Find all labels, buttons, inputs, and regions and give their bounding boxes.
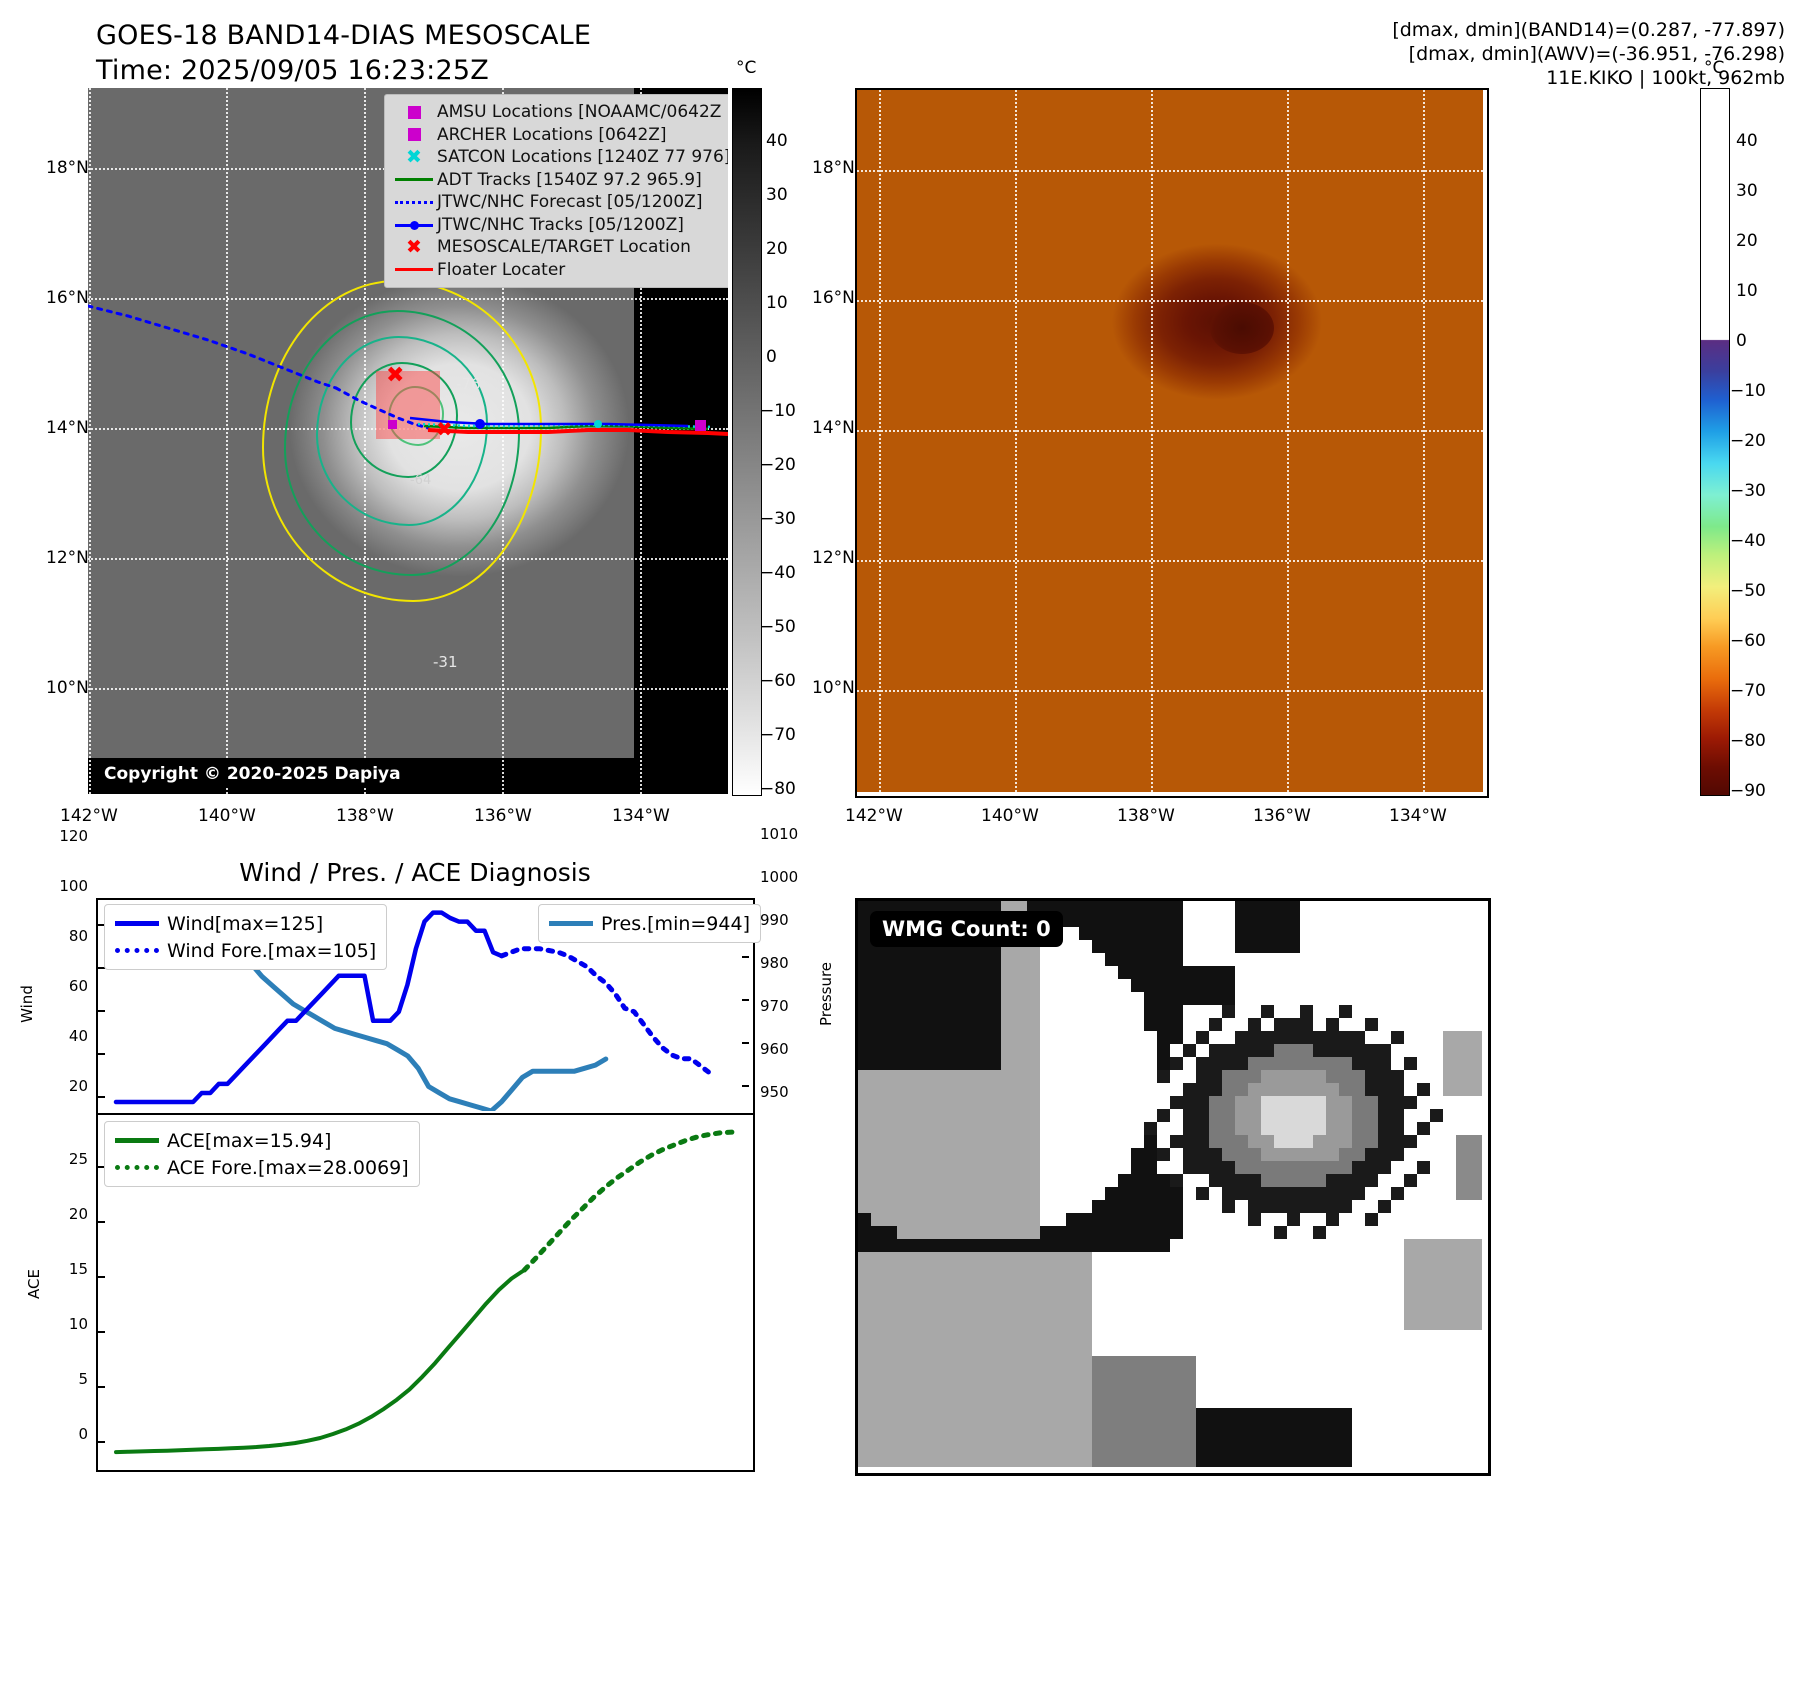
grid-line-horizontal xyxy=(857,300,1487,302)
diagnosis-chart-title: Wind / Pres. / ACE Diagnosis xyxy=(0,858,830,887)
legend-item: AMSU Locations [NOAAMC/0642Z 70 987] xyxy=(391,101,728,124)
ir-lat-tick: 10°N xyxy=(46,678,89,698)
mesoscale-target-x-marker: ✖ xyxy=(436,417,453,441)
wv-colorbar-tick: −10 xyxy=(1730,381,1766,401)
ir-colorbar-gradient xyxy=(732,88,762,796)
ir-colorbar-tick: 0 xyxy=(766,347,777,367)
wv-colorbar-tick: −30 xyxy=(1730,481,1766,501)
wmg-raster xyxy=(858,901,1482,1467)
legend-item: ✖ SATCON Locations [1240Z 77 976] xyxy=(391,146,728,169)
wv-image xyxy=(857,90,1483,792)
ace-ytick: 25 xyxy=(38,1150,88,1168)
annotation-awv-range: [dmax, dmin](AWV)=(-36.951, -76.298) xyxy=(1392,42,1785,66)
wmg-count-badge: WMG Count: 0 xyxy=(870,911,1063,947)
pressure-ytick: 950 xyxy=(760,1083,789,1101)
ir-colorbar-tick: 10 xyxy=(766,293,788,313)
wv-lon-tick: 138°W xyxy=(1117,806,1175,826)
wind-forecast-dotted-icon xyxy=(115,948,167,953)
legend-item-label: ADT Tracks [1540Z 97.2 965.9] xyxy=(437,170,702,190)
legend-item: JTWC/NHC Forecast [05/1200Z] xyxy=(391,191,728,214)
grid-line-horizontal xyxy=(857,430,1487,432)
satcon-x-icon: ✖ xyxy=(391,148,437,167)
wv-colorbar-tick: −40 xyxy=(1730,531,1766,551)
ir-colorbar-tick: −50 xyxy=(760,617,796,637)
floater-locater-track xyxy=(428,430,728,434)
legend-item: ACE Fore.[max=28.0069] xyxy=(115,1154,409,1181)
wv-colorbar-tick: 30 xyxy=(1736,181,1758,201)
pressure-ytick: 1000 xyxy=(760,868,798,886)
jtwc-line-dot-icon xyxy=(391,220,437,230)
ir-satellite-panel[interactable]: -76 -31 -64 ✖ ✖ AMSU Locations [NOAAMC/0… xyxy=(88,88,728,794)
legend-item: ADT Tracks [1540Z 97.2 965.9] xyxy=(391,169,728,192)
ir-colorbar-tick: −70 xyxy=(760,725,796,745)
ir-lon-tick: 136°W xyxy=(474,806,532,826)
wind-legend: Wind[max=125] Wind Fore.[max=105] xyxy=(104,904,387,970)
ir-colorbar-tick: −10 xyxy=(760,401,796,421)
storm-eye xyxy=(1210,302,1274,354)
pressure-ytick: 990 xyxy=(760,911,789,929)
ir-lon-tick: 140°W xyxy=(198,806,256,826)
wv-colorbar-tick: −60 xyxy=(1730,631,1766,651)
ir-lat-tick: 16°N xyxy=(46,288,89,308)
ace-ytick: 10 xyxy=(38,1315,88,1333)
jtwc-forecast-track xyxy=(88,306,336,388)
legend-item-label: Wind Fore.[max=105] xyxy=(167,940,376,962)
ir-lat-tick: 18°N xyxy=(46,158,89,178)
wind-ytick: 100 xyxy=(38,877,88,895)
ir-colorbar-tick: −30 xyxy=(760,509,796,529)
legend-item-label: Pres.[min=944] xyxy=(601,913,750,935)
wv-colorbar-gradient xyxy=(1700,88,1730,796)
legend-item-label: SATCON Locations [1240Z 77 976] xyxy=(437,147,728,167)
wind-ytick: 60 xyxy=(38,977,88,995)
wv-colorbar-tick: −20 xyxy=(1730,431,1766,451)
jtwc-track-point xyxy=(475,419,485,429)
wv-colorbar-tick: 40 xyxy=(1736,131,1758,151)
pressure-ytick: 970 xyxy=(760,997,789,1015)
wind-pressure-chart[interactable]: Wind[max=125] Wind Fore.[max=105] Pres.[… xyxy=(96,898,755,1117)
ace-ytick: 15 xyxy=(38,1260,88,1278)
annotation-storm-intensity: 11E.KIKO | 100kt, 962mb xyxy=(1392,66,1785,90)
pressure-line-icon xyxy=(549,921,601,926)
ir-colorbar-tick: 40 xyxy=(766,131,788,151)
legend-item: Pres.[min=944] xyxy=(549,910,750,937)
pressure-ytick: 980 xyxy=(760,954,789,972)
ir-colorbar-tick: −60 xyxy=(760,671,796,691)
top-right-annotation: [dmax, dmin](BAND14)=(0.287, -77.897) [d… xyxy=(1392,18,1785,90)
legend-item: Wind[max=125] xyxy=(115,910,376,937)
wv-colorbar-tick: −70 xyxy=(1730,681,1766,701)
ir-colorbar: °C 40 30 20 10 0 −10 −20 −30 −40 −50 −60… xyxy=(728,88,798,794)
wind-ytick: 80 xyxy=(38,927,88,945)
wv-lat-tick: 12°N xyxy=(812,548,855,568)
legend-item: ACE[max=15.94] xyxy=(115,1127,409,1154)
pressure-axis-label: Pressure xyxy=(817,954,835,1034)
pressure-ytick: 1010 xyxy=(760,825,798,843)
wv-colorbar-tick: −50 xyxy=(1730,581,1766,601)
legend-item: ✖ MESOSCALE/TARGET Location xyxy=(391,236,728,259)
water-vapor-panel[interactable] xyxy=(855,88,1489,798)
wv-colorbar-tick: 0 xyxy=(1736,331,1747,351)
wv-colorbar-unit: °C xyxy=(1704,58,1724,78)
ir-lon-tick: 142°W xyxy=(60,806,118,826)
annotation-band14-range: [dmax, dmin](BAND14)=(0.287, -77.897) xyxy=(1392,18,1785,42)
wv-colorbar-tick: −90 xyxy=(1730,781,1766,801)
wv-lat-tick: 14°N xyxy=(812,418,855,438)
ir-colorbar-tick: 30 xyxy=(766,185,788,205)
mesoscale-target-x-marker: ✖ xyxy=(386,363,404,388)
grid-line-horizontal xyxy=(857,690,1487,692)
wv-lat-tick: 10°N xyxy=(812,678,855,698)
legend-item: Wind Fore.[max=105] xyxy=(115,937,376,964)
figure-title: GOES-18 BAND14-DIAS MESOSCALE Time: 2025… xyxy=(96,18,591,88)
legend-item-label: Wind[max=125] xyxy=(167,913,323,935)
wv-lat-tick: 18°N xyxy=(812,158,855,178)
ir-colorbar-tick: 20 xyxy=(766,239,788,259)
amsu-location-marker xyxy=(695,420,706,431)
pressure-legend: Pres.[min=944] xyxy=(538,904,761,943)
legend-item: ARCHER Locations [0642Z] xyxy=(391,124,728,147)
archer-location-marker xyxy=(388,420,397,429)
adt-line-icon xyxy=(391,178,437,181)
wv-lon-tick: 136°W xyxy=(1253,806,1311,826)
figure-title-line2: Time: 2025/09/05 16:23:25Z xyxy=(96,53,591,88)
mesoscale-x-icon: ✖ xyxy=(391,238,437,257)
wmg-panel[interactable]: WMG Count: 0 xyxy=(855,898,1491,1476)
legend-item-label: ARCHER Locations [0642Z] xyxy=(437,125,667,145)
ir-lon-tick: 134°W xyxy=(612,806,670,826)
ir-colorbar-tick: −80 xyxy=(760,779,796,799)
legend-item: Floater Locater xyxy=(391,259,728,282)
ace-ytick: 0 xyxy=(38,1425,88,1443)
ir-lat-tick: 12°N xyxy=(46,548,89,568)
ir-lat-tick: 14°N xyxy=(46,418,89,438)
satcon-point xyxy=(594,420,602,428)
ir-panel-legend: AMSU Locations [NOAAMC/0642Z 70 987] ARC… xyxy=(384,94,728,288)
wv-colorbar: °C 40 30 20 10 0 −10 −20 −30 −40 −50 −60… xyxy=(1700,88,1790,794)
legend-item-label: JTWC/NHC Forecast [05/1200Z] xyxy=(437,192,702,212)
ir-colorbar-tick: −40 xyxy=(760,563,796,583)
wind-ytick: 40 xyxy=(38,1027,88,1045)
grid-line-horizontal xyxy=(857,170,1487,172)
grid-line-horizontal xyxy=(857,560,1487,562)
ace-chart[interactable]: ACE[max=15.94] ACE Fore.[max=28.0069] xyxy=(96,1113,755,1472)
ace-legend: ACE[max=15.94] ACE Fore.[max=28.0069] xyxy=(104,1121,420,1187)
wind-ytick: 20 xyxy=(38,1077,88,1095)
wv-colorbar-tick: −80 xyxy=(1730,731,1766,751)
amsu-square-icon xyxy=(391,106,437,119)
legend-item-label: Floater Locater xyxy=(437,260,565,280)
ace-forecast-dotted-icon xyxy=(115,1165,167,1170)
ace-ytick: 5 xyxy=(38,1370,88,1388)
wv-lon-tick: 142°W xyxy=(845,806,903,826)
wind-ytick: 120 xyxy=(38,827,88,845)
figure-title-line1: GOES-18 BAND14-DIAS MESOSCALE xyxy=(96,18,591,53)
wv-lat-tick: 16°N xyxy=(812,288,855,308)
legend-item-label: MESOSCALE/TARGET Location xyxy=(437,237,691,257)
ir-colorbar-tick: −20 xyxy=(760,455,796,475)
ir-lon-tick: 138°W xyxy=(336,806,394,826)
forecast-dotted-line-icon xyxy=(391,201,437,204)
pressure-ytick: 960 xyxy=(760,1040,789,1058)
legend-item: JTWC/NHC Tracks [05/1200Z] xyxy=(391,214,728,237)
legend-item-label: ACE[max=15.94] xyxy=(167,1130,331,1152)
wv-colorbar-tick: 10 xyxy=(1736,281,1758,301)
ace-line-icon xyxy=(115,1138,167,1143)
legend-item-label: JTWC/NHC Tracks [05/1200Z] xyxy=(437,215,684,235)
copyright-notice: Copyright © 2020-2025 Dapiya xyxy=(96,760,409,788)
archer-square-icon xyxy=(391,128,437,141)
jtwc-forecast-track xyxy=(336,388,428,428)
ir-colorbar-unit: °C xyxy=(736,58,756,78)
floater-line-icon xyxy=(391,268,437,271)
ace-ytick: 20 xyxy=(38,1205,88,1223)
legend-item-label: AMSU Locations [NOAAMC/0642Z 70 987] xyxy=(437,102,728,122)
wind-axis-label: Wind xyxy=(18,974,36,1034)
wv-lon-tick: 140°W xyxy=(981,806,1039,826)
wind-line-icon xyxy=(115,921,167,926)
legend-item-label: ACE Fore.[max=28.0069] xyxy=(167,1157,409,1179)
wv-lon-tick: 134°W xyxy=(1389,806,1447,826)
wv-colorbar-tick: 20 xyxy=(1736,231,1758,251)
